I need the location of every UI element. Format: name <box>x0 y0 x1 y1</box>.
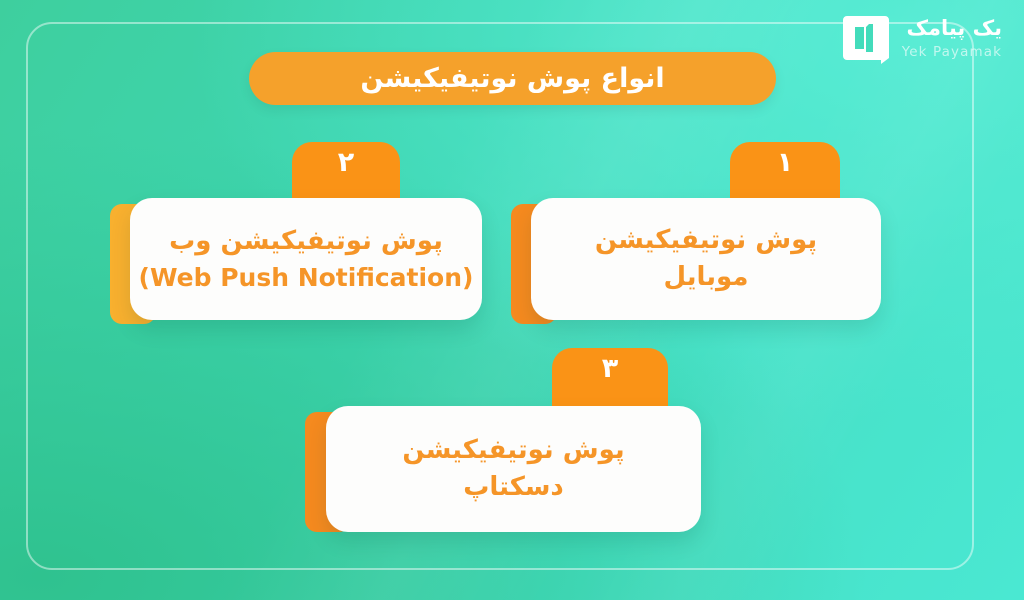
card-label-line-2: موبایل <box>664 259 749 296</box>
card-label-line-2: (Web Push Notification) <box>139 260 474 296</box>
card-number: ۳ <box>602 354 618 384</box>
card-number: ۲ <box>338 148 354 178</box>
card-desktop-push-notification: ۳ پوش نوتیفیکیشن دسکتاپ <box>300 348 720 545</box>
card-mobile-push-notification: ۱ پوش نوتیفیکیشن موبایل <box>505 142 895 337</box>
card-number: ۱ <box>777 148 793 178</box>
card-label-line-2: دسکتاپ <box>463 469 564 506</box>
card-label-line-1: پوش نوتیفیکیشن <box>595 222 817 259</box>
card-number-badge: ۲ <box>292 142 400 202</box>
brand-name-en: Yek Payamak <box>902 46 1002 60</box>
card-body: پوش نوتیفیکیشن وب (Web Push Notification… <box>130 198 482 320</box>
card-label-line-1: پوش نوتیفیکیشن وب <box>169 223 443 260</box>
card-label-line-1: پوش نوتیفیکیشن <box>402 432 624 469</box>
infographic-canvas: یک پیامک Yek Payamak انواع پوش نوتیفیکیش… <box>0 0 1024 600</box>
brand-logo-text: یک پیامک Yek Payamak <box>902 18 1002 60</box>
speech-bubble-one-logo-icon <box>843 14 889 64</box>
brand-name-fa: یک پیامک <box>902 18 1002 39</box>
page-title-banner: انواع پوش نوتیفیکیشن <box>249 52 776 105</box>
card-web-push-notification: ۲ پوش نوتیفیکیشن وب (Web Push Notificati… <box>105 142 500 337</box>
card-body: پوش نوتیفیکیشن موبایل <box>531 198 881 320</box>
card-body: پوش نوتیفیکیشن دسکتاپ <box>326 406 701 532</box>
card-number-badge: ۱ <box>730 142 840 202</box>
page-title: انواع پوش نوتیفیکیشن <box>360 63 664 94</box>
card-number-badge: ۳ <box>552 348 668 408</box>
brand-logo: یک پیامک Yek Payamak <box>843 14 1002 64</box>
